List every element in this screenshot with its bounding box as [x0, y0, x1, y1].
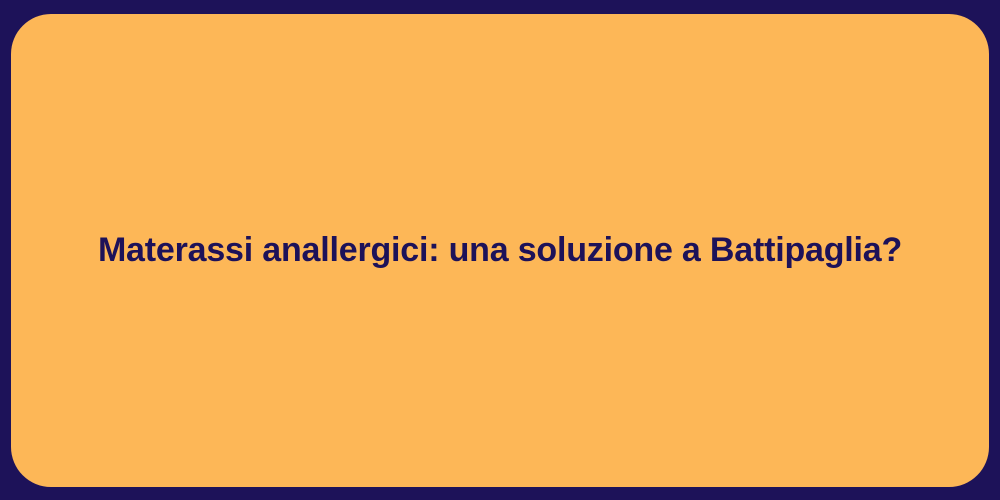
banner-title: Materassi anallergici: una soluzione a B… — [58, 229, 942, 272]
banner-frame: Materassi anallergici: una soluzione a B… — [0, 0, 1000, 500]
banner-panel: Materassi anallergici: una soluzione a B… — [11, 14, 989, 487]
